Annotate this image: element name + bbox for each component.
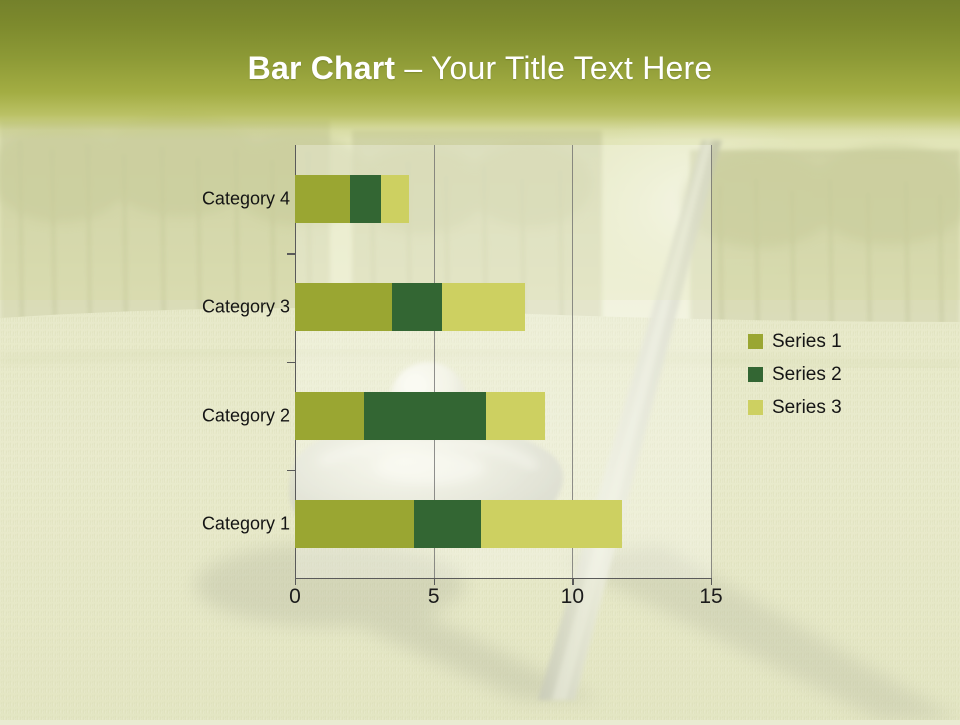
gridline [711,145,712,579]
x-axis-tick [434,578,435,585]
bar-segment [364,392,486,440]
bar-segment [392,283,442,331]
legend-item: Series 2 [748,358,842,391]
y-axis-tick [287,362,295,363]
bar-segment [442,283,525,331]
x-axis-tick [572,578,573,585]
legend-item: Series 3 [748,391,842,424]
y-axis-tick [287,253,295,254]
y-axis-tick [287,470,295,471]
bar-segment [486,392,544,440]
x-axis-tick-label: 5 [428,585,440,609]
bar-segment [414,500,481,548]
x-axis-tick-label: 0 [289,585,301,609]
legend-item: Series 1 [748,325,842,358]
bar-segment [295,500,414,548]
chart-legend: Series 1Series 2Series 3 [748,325,842,424]
category-label: Category 1 [170,513,290,534]
bar-segment [381,175,409,223]
bar-segment [295,283,392,331]
bar-segment [295,392,364,440]
legend-swatch [748,400,763,415]
x-axis-tick-label: 10 [561,585,584,609]
x-axis-tick [295,578,296,585]
x-axis-tick [711,578,712,585]
bar-segment [350,175,381,223]
legend-swatch [748,334,763,349]
x-axis-line [295,578,712,579]
legend-swatch [748,367,763,382]
x-axis-tick-label: 15 [699,585,722,609]
category-label: Category 4 [170,189,290,210]
category-label: Category 2 [170,405,290,426]
bar-segment [295,175,350,223]
category-label: Category 3 [170,297,290,318]
legend-label: Series 3 [772,397,842,419]
legend-label: Series 2 [772,364,842,386]
legend-label: Series 1 [772,331,842,353]
bar-segment [481,500,622,548]
